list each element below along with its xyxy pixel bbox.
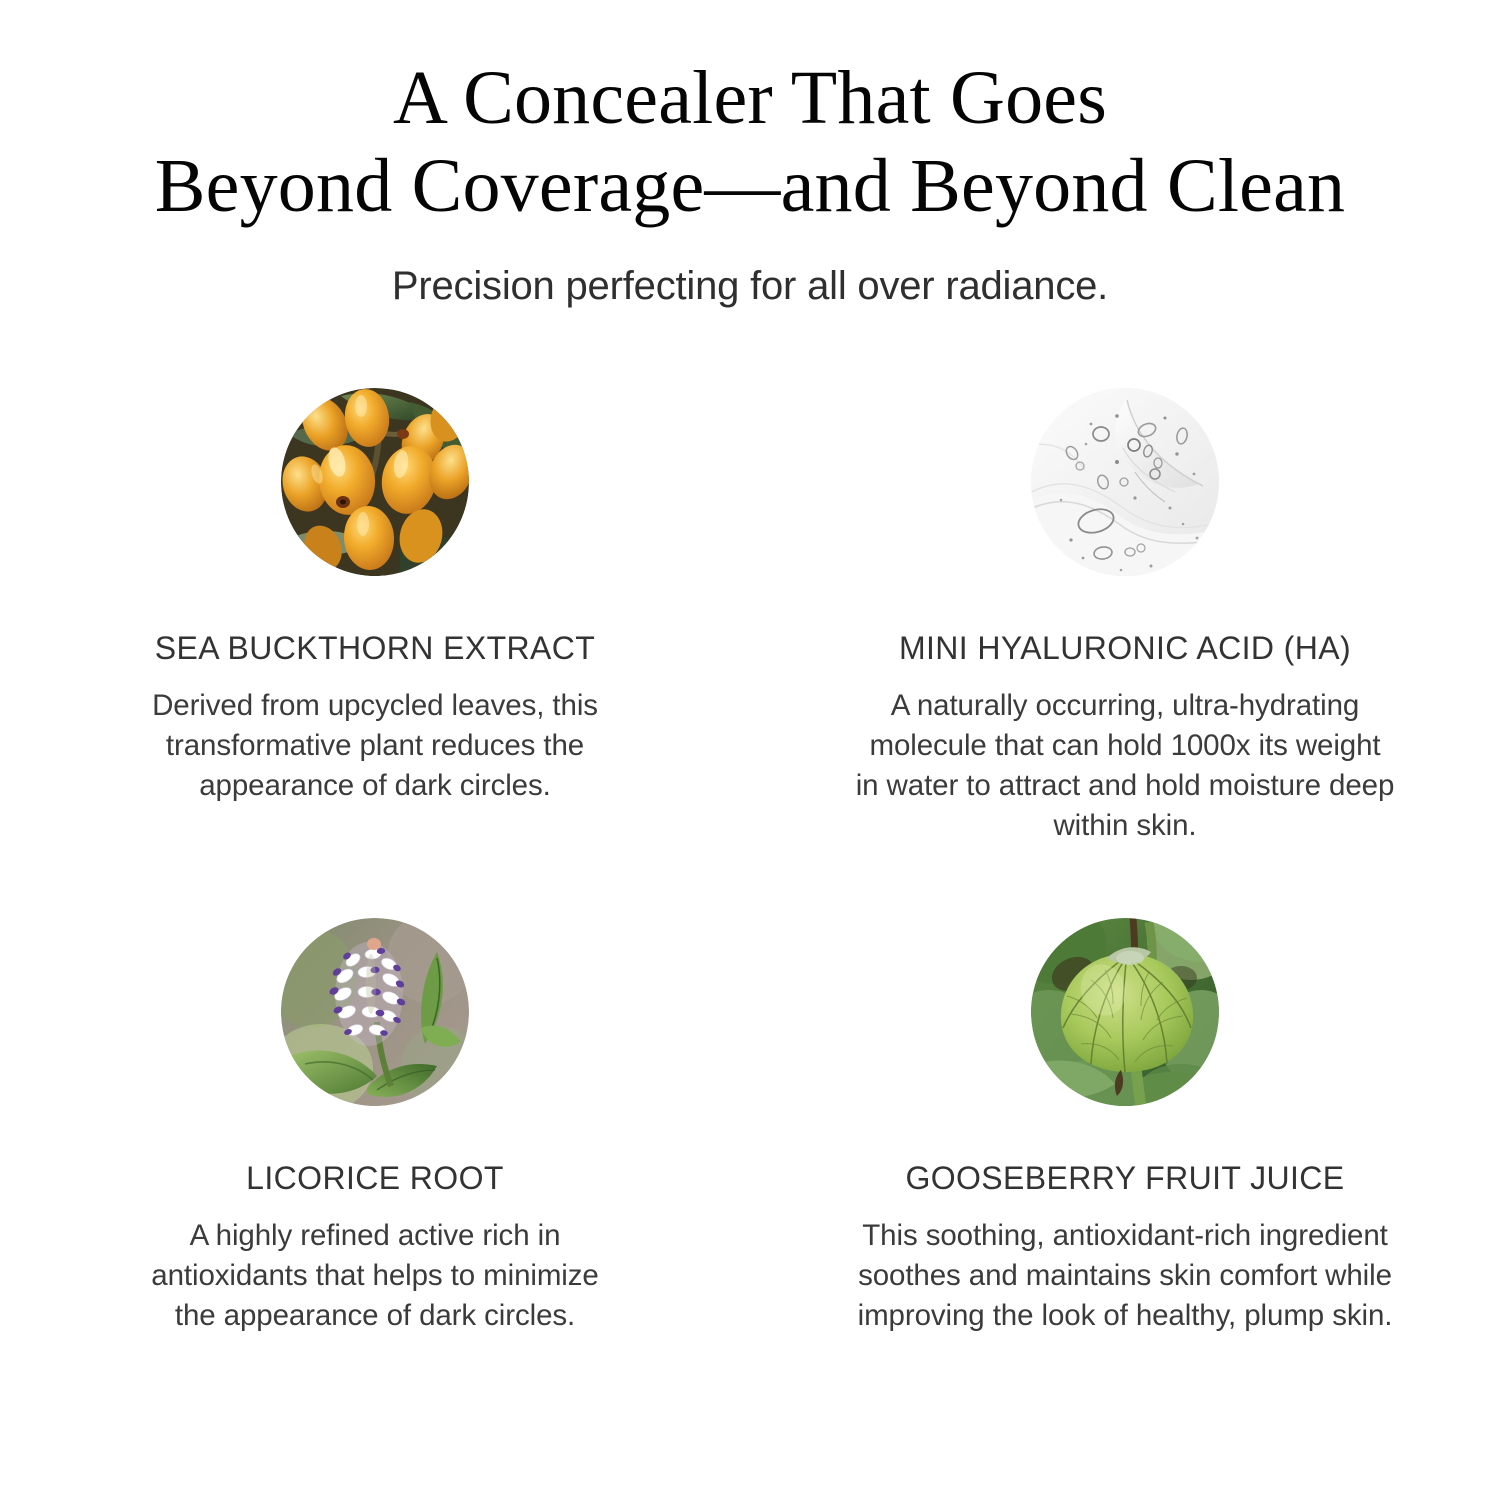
gooseberry-fruit-husk-photo — [1031, 918, 1219, 1106]
hyaluronic-acid-gel-texture-photo — [1031, 388, 1219, 576]
ingredient-card-licorice-root: LICORICE ROOT A highly refined active ri… — [0, 918, 750, 1336]
page-subtitle: Precision perfecting for all over radian… — [0, 230, 1500, 310]
ingredient-description: Derived from upcycled leaves, this trans… — [130, 666, 620, 806]
ingredient-description: A naturally occurring, ultra-hydrating m… — [855, 666, 1395, 846]
thumbnail-wrapper — [1031, 918, 1219, 1106]
ingredient-benefits-page: A Concealer That Goes Beyond Coverage—an… — [0, 0, 1500, 1500]
ingredient-title: MINI HYALURONIC ACID (HA) — [899, 576, 1351, 666]
ingredient-title: LICORICE ROOT — [246, 1106, 504, 1196]
thumbnail-wrapper — [1031, 388, 1219, 576]
page-title: A Concealer That Goes Beyond Coverage—an… — [0, 54, 1500, 230]
thumbnail-wrapper — [281, 388, 469, 576]
ingredient-title: SEA BUCKTHORN EXTRACT — [155, 576, 595, 666]
licorice-root-flower-photo — [281, 918, 469, 1106]
page-header: A Concealer That Goes Beyond Coverage—an… — [0, 54, 1500, 310]
ingredient-card-hyaluronic-acid: MINI HYALURONIC ACID (HA) A naturally oc… — [750, 388, 1500, 918]
ingredient-description: This soothing, antioxidant-rich ingredie… — [855, 1196, 1395, 1336]
ingredient-description: A highly refined active rich in antioxid… — [130, 1196, 620, 1336]
sea-buckthorn-berries-photo — [281, 388, 469, 576]
thumbnail-wrapper — [281, 918, 469, 1106]
ingredient-grid: SEA BUCKTHORN EXTRACT Derived from upcyc… — [0, 388, 1500, 1336]
ingredient-card-gooseberry: GOOSEBERRY FRUIT JUICE This soothing, an… — [750, 918, 1500, 1336]
ingredient-title: GOOSEBERRY FRUIT JUICE — [905, 1106, 1344, 1196]
ingredient-card-sea-buckthorn: SEA BUCKTHORN EXTRACT Derived from upcyc… — [0, 388, 750, 918]
